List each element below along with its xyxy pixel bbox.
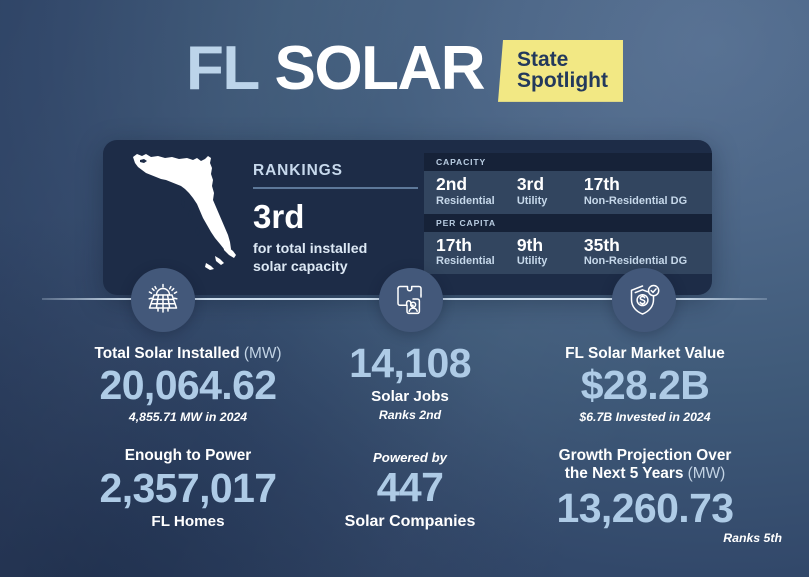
page-title: FL SOLAR [186,38,484,100]
stat-label: FL Solar Market Value [500,345,790,363]
puzzle-person-icon [379,268,443,332]
cell-percapita-residential: 17th Residential [436,236,517,268]
stat-value: 14,108 [320,342,500,385]
stat-label-line-2-bold: the Next 5 Years [565,465,684,482]
overall-rank-value: 3rd [253,200,418,233]
stat-label: Growth Projection Over the Next 5 Years … [500,447,790,484]
stat-subtext: Ranks 2nd [320,408,500,423]
group-label-per-capita: PER CAPITA [424,214,712,232]
cell-percapita-non-residential-dg: 35th Non-Residential DG [584,236,712,268]
stat-total-solar-installed: Total Solar Installed (MW) 20,064.62 4,8… [43,345,333,425]
stat-growth-projection: Growth Projection Over the Next 5 Years … [500,447,790,545]
stat-value: 447 [320,466,500,509]
stat-subtext: Ranks 5th [500,531,790,546]
solar-panel-sun-icon [131,268,195,332]
category: Non-Residential DG [584,195,710,207]
rank: 17th [436,236,515,256]
state-spotlight-badge: State Spotlight [498,40,623,102]
stat-caption: FL Homes [43,513,333,531]
stat-label: Enough to Power [43,447,333,465]
rankings-heading: RANKINGS [253,162,418,189]
stat-subtext: 4,855.71 MW in 2024 [43,410,333,425]
stat-value: 2,357,017 [43,467,333,510]
cell-capacity-residential: 2nd Residential [436,175,517,207]
title-state-abbrev: FL [186,34,259,103]
rank: 17th [584,175,710,195]
header: FL SOLAR State Spotlight [0,36,809,102]
infographic-poster: FL SOLAR State Spotlight RANKINGS 3rd fo… [0,0,809,577]
category: Utility [517,195,582,207]
rank: 35th [584,236,710,256]
rank: 9th [517,236,582,256]
stat-value: 20,064.62 [43,364,333,407]
table-row: 2nd Residential 3rd Utility 17th Non-Res… [424,171,712,214]
stat-label-unit: (MW) [244,345,282,362]
shield-dollar-check-icon [612,268,676,332]
category: Non-Residential DG [584,255,710,267]
stat-market-value: FL Solar Market Value $28.2B $6.7B Inves… [500,345,790,425]
cell-percapita-utility: 9th Utility [517,236,584,268]
group-label-capacity: CAPACITY [424,153,712,171]
badge-line-2: Spotlight [517,70,608,91]
badge-line-1: State [517,49,608,70]
rank-desc-line-1: for total installed [253,241,418,259]
table-row: 17th Residential 9th Utility 35th Non-Re… [424,232,712,275]
rank: 2nd [436,175,515,195]
category: Utility [517,255,582,267]
stat-pretext: Powered by [320,450,500,465]
stat-solar-jobs: 14,108 Solar Jobs Ranks 2nd [320,342,500,423]
florida-state-map [127,148,239,278]
cell-capacity-utility: 3rd Utility [517,175,584,207]
category: Residential [436,255,515,267]
rank: 3rd [517,175,582,195]
stat-enough-to-power: Enough to Power 2,357,017 FL Homes [43,447,333,531]
title-main: SOLAR [275,34,485,103]
stat-caption: Solar Companies [320,512,500,531]
stat-label-unit: (MW) [688,465,726,482]
stat-solar-companies: Powered by 447 Solar Companies [320,450,500,531]
stat-label-line-2: the Next 5 Years (MW) [500,465,790,483]
stat-label: Total Solar Installed (MW) [43,345,333,363]
rankings-table: CAPACITY 2nd Residential 3rd Utility 17t… [424,153,712,274]
stat-label-line-1: Growth Projection Over [500,447,790,465]
stat-label-bold: Total Solar Installed [95,345,240,362]
stat-value: $28.2B [500,364,790,407]
category: Residential [436,195,515,207]
stat-caption: Solar Jobs [320,388,500,406]
rankings-summary: RANKINGS 3rd for total installed solar c… [253,162,418,277]
stat-value: 13,260.73 [500,487,790,530]
overall-rank-description: for total installed solar capacity [253,241,418,277]
cell-capacity-non-residential-dg: 17th Non-Residential DG [584,175,712,207]
stat-subtext: $6.7B Invested in 2024 [500,410,790,425]
